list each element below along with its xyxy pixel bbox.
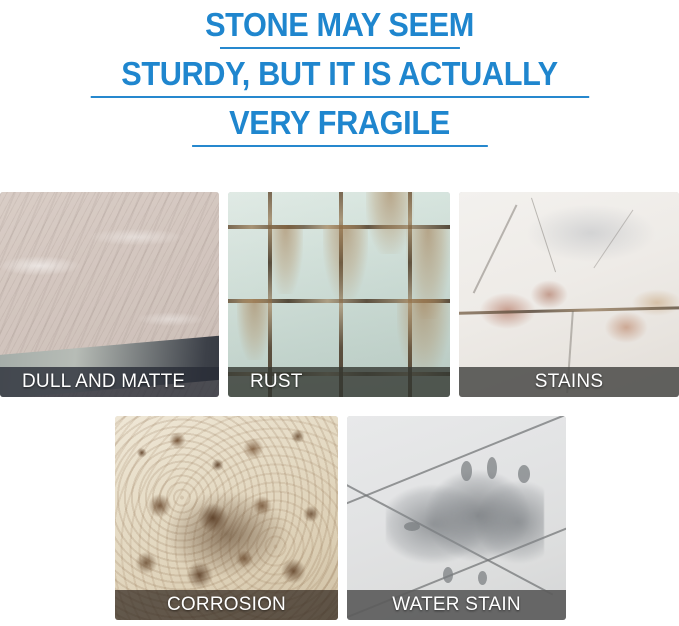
tile-label-stains: STAINS (459, 367, 679, 397)
water-droplet (518, 465, 530, 483)
headline-text-1: STONE MAY SEEM (205, 6, 474, 43)
headline-text-3: VERY FRAGILE (229, 104, 450, 141)
marble-crack-main (459, 306, 679, 315)
tile-corrosion: CORROSION (115, 416, 338, 620)
rust-stain-blotch (268, 225, 304, 295)
rust-stain-blotch (323, 225, 367, 299)
tile-stains: STAINS (459, 192, 679, 397)
marble-crack-thin (473, 205, 518, 294)
headline-line-2: STURDY, BUT IT IS ACTUALLY (24, 53, 655, 98)
rust-stain-blotch (397, 299, 450, 377)
tile-label-water-stain: WATER STAIN (347, 590, 566, 620)
rust-stain-blotch (237, 299, 273, 361)
water-droplet (478, 571, 487, 585)
water-droplet (461, 461, 472, 481)
water-droplet (404, 522, 420, 531)
tile-label-corrosion: CORROSION (115, 590, 338, 620)
headline-line-3: VERY FRAGILE (24, 102, 655, 147)
tile-rust: RUST (228, 192, 450, 397)
headline-underline-3 (192, 145, 488, 147)
tile-dull-and-matte: DULL AND MATTE (0, 192, 219, 397)
headline-line-1: STONE MAY SEEM (24, 4, 655, 49)
water-droplet (443, 567, 453, 583)
tile-label-rust: RUST (228, 367, 450, 397)
headline-underline-1 (220, 47, 460, 49)
page-title: STONE MAY SEEM STURDY, BUT IT IS ACTUALL… (0, 4, 679, 151)
marble-crack-thin (594, 210, 634, 268)
tile-label-dull-and-matte: DULL AND MATTE (0, 367, 219, 397)
tile-water-stain: WATER STAIN (347, 416, 566, 620)
poster-root: STONE MAY SEEM STURDY, BUT IT IS ACTUALL… (0, 0, 679, 626)
water-droplet (487, 457, 497, 479)
headline-text-2: STURDY, BUT IT IS ACTUALLY (121, 55, 557, 92)
headline-underline-2 (90, 96, 588, 98)
marble-crack-thin (531, 198, 556, 272)
